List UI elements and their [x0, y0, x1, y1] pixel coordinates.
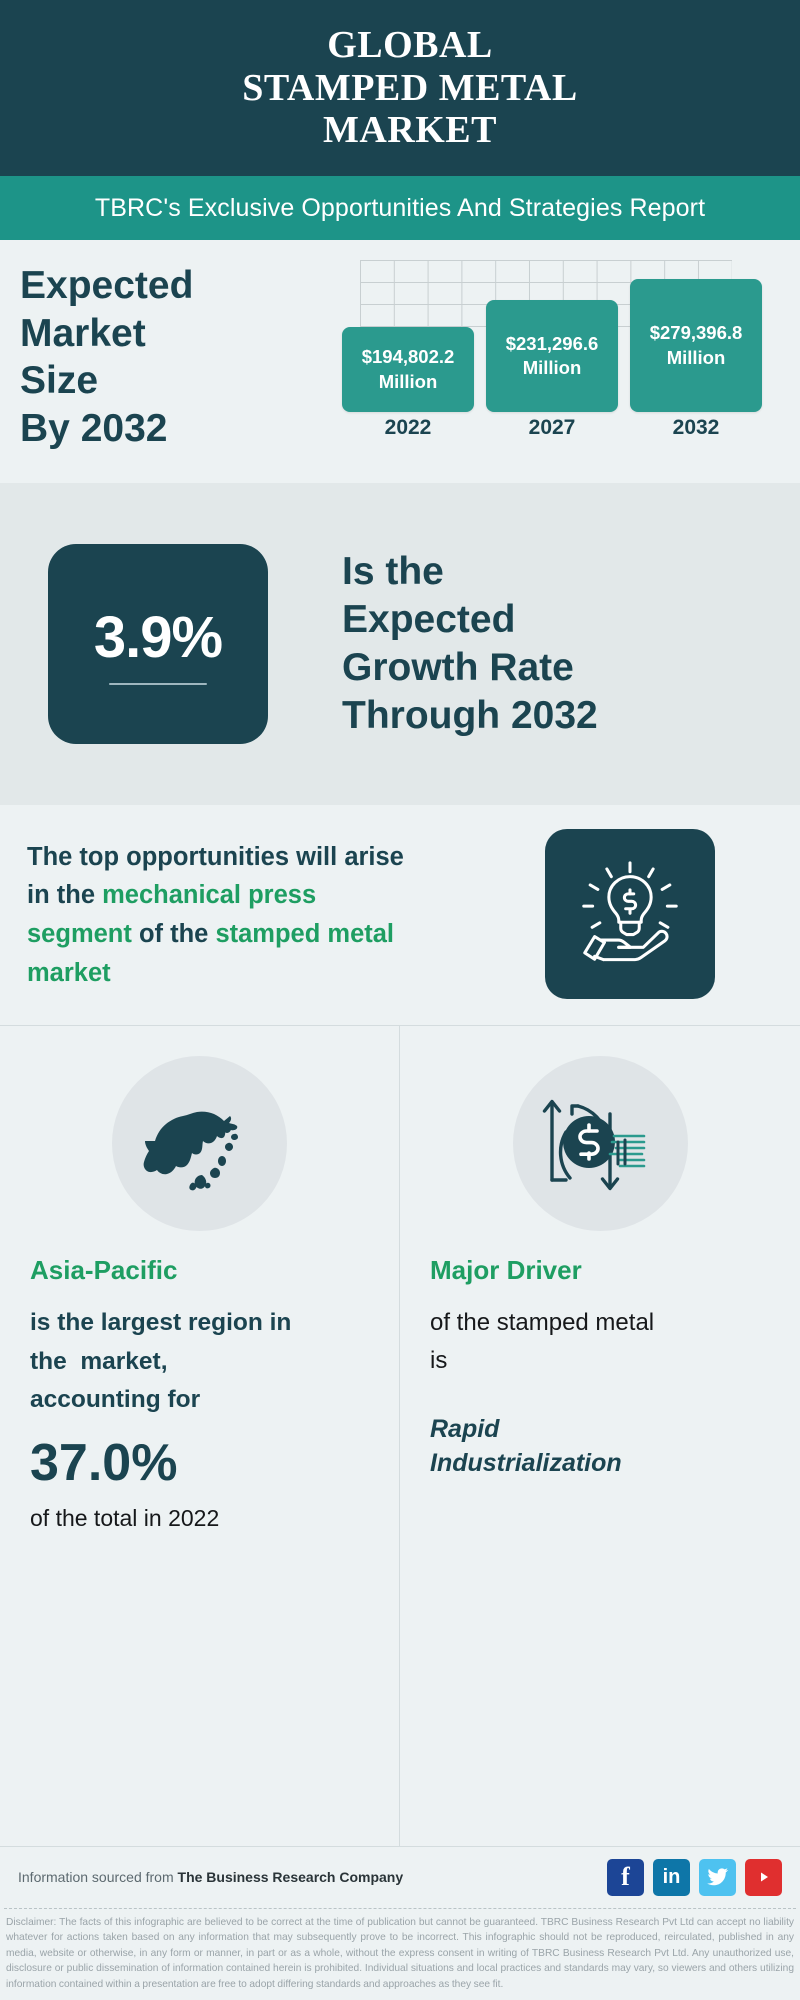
bar-2027: $231,296.6 Million: [486, 300, 618, 412]
cagr-value: 3.9%: [94, 604, 222, 671]
bar-unit-2027: Million: [523, 356, 582, 380]
opportunity-text: The top opportunities will arise in the …: [27, 838, 427, 993]
market-size-section: Expected Market Size By 2032 $194,802.2 …: [0, 240, 800, 483]
title-line-3: MARKET: [242, 109, 578, 152]
region-share-value: 37.0%: [30, 1432, 369, 1494]
driver-heading: Major Driver: [430, 1255, 770, 1286]
hand-holding-lightbulb-dollar-icon: [571, 855, 689, 973]
two-column-section: Asia-Pacific is the largest region in th…: [0, 1025, 800, 1905]
driver-text: Major Driver of the stamped metal is Rap…: [400, 1255, 800, 1480]
title-line-2: STAMPED METAL: [242, 67, 578, 110]
market-size-bar-chart: $194,802.2 Million $231,296.6 Million $2…: [320, 252, 780, 452]
infographic-page: GLOBAL STAMPED METAL MARKET TBRC's Exclu…: [0, 0, 800, 2000]
growth-line-4: Through 2032: [342, 692, 598, 740]
bar-2032: $279,396.8 Million: [630, 279, 762, 412]
source-line: Information sourced from The Business Re…: [18, 1869, 403, 1885]
driver-body-line-2: is: [430, 1342, 770, 1380]
linkedin-icon[interactable]: in: [653, 1859, 690, 1896]
market-title-line-2: Market: [20, 310, 290, 358]
subtitle-text: TBRC's Exclusive Opportunities And Strat…: [95, 194, 705, 223]
disclaimer-text: Disclaimer: The facts of this infographi…: [0, 1909, 800, 2000]
x-tick-2022: 2022: [342, 416, 474, 440]
title-line-1: GLOBAL: [242, 24, 578, 67]
region-share-note: of the total in 2022: [30, 1505, 369, 1532]
opportunity-section: The top opportunities will arise in the …: [0, 805, 800, 1025]
footer-top: Information sourced from The Business Re…: [0, 1846, 800, 1908]
facebook-glyph: f: [621, 1862, 630, 1892]
region-heading: Asia-Pacific: [30, 1255, 369, 1286]
market-size-title: Expected Market Size By 2032: [20, 262, 290, 452]
driver-value-line-2: Industrialization: [430, 1447, 770, 1481]
page-title: GLOBAL STAMPED METAL MARKET: [242, 24, 578, 152]
bar-unit-2022: Million: [379, 370, 438, 394]
header: GLOBAL STAMPED METAL MARKET: [0, 0, 800, 176]
region-body-line-3: accounting for: [30, 1381, 369, 1420]
bar-value-2027: $231,296.6: [506, 332, 599, 356]
cagr-underline: [109, 683, 207, 685]
driver-panel: Major Driver of the stamped metal is Rap…: [400, 1026, 800, 1905]
driver-icon-wrap: [400, 1056, 800, 1231]
dollar-circular-arrows-icon: [530, 1080, 670, 1208]
region-body: is the largest region in the market, acc…: [30, 1304, 369, 1420]
asia-pacific-map-icon: [135, 1079, 265, 1209]
opportunity-icon-box: [545, 829, 715, 999]
twitter-bird-icon: [707, 1867, 729, 1887]
growth-line-1: Is the: [342, 548, 598, 596]
market-title-line-1: Expected: [20, 262, 290, 310]
chart-bars: $194,802.2 Million $231,296.6 Million $2…: [320, 252, 780, 412]
twitter-icon[interactable]: [699, 1859, 736, 1896]
growth-rate-section: 3.9% Is the Expected Growth Rate Through…: [0, 483, 800, 805]
opportunity-seg-4: of the: [132, 920, 216, 948]
facebook-icon[interactable]: f: [607, 1859, 644, 1896]
cagr-badge: 3.9%: [48, 544, 268, 744]
bar-unit-2032: Million: [667, 346, 726, 370]
social-links: f in: [607, 1859, 782, 1896]
region-text: Asia-Pacific is the largest region in th…: [0, 1255, 399, 1532]
market-title-line-4: By 2032: [20, 405, 290, 453]
market-title-line-3: Size: [20, 357, 290, 405]
bar-column-2027: $231,296.6 Million: [486, 300, 618, 412]
youtube-play-icon: [754, 1868, 774, 1886]
growth-rate-text: Is the Expected Growth Rate Through 2032: [342, 548, 598, 740]
bar-column-2032: $279,396.8 Million: [630, 279, 762, 412]
linkedin-glyph: in: [663, 1866, 681, 1889]
bar-value-2022: $194,802.2: [362, 345, 455, 369]
driver-value: Rapid Industrialization: [430, 1413, 770, 1481]
source-prefix: Information sourced from: [18, 1869, 178, 1885]
region-body-line-1: is the largest region in: [30, 1304, 369, 1343]
growth-line-2: Expected: [342, 596, 598, 644]
driver-value-line-1: Rapid: [430, 1413, 770, 1447]
growth-line-3: Growth Rate: [342, 644, 598, 692]
driver-body-line-1: of the stamped metal: [430, 1304, 770, 1342]
region-icon-wrap: [0, 1056, 399, 1231]
bar-value-2032: $279,396.8: [650, 321, 743, 345]
driver-body: of the stamped metal is: [430, 1304, 770, 1381]
bar-column-2022: $194,802.2 Million: [342, 327, 474, 412]
subtitle-bar: TBRC's Exclusive Opportunities And Strat…: [0, 176, 800, 240]
footer: Information sourced from The Business Re…: [0, 1846, 800, 2000]
bar-2022: $194,802.2 Million: [342, 327, 474, 412]
region-icon-circle: [112, 1056, 287, 1231]
youtube-icon[interactable]: [745, 1859, 782, 1896]
x-tick-2027: 2027: [486, 416, 618, 440]
opportunity-seg-1: The top opportunities will: [27, 843, 344, 871]
region-body-line-2: the market,: [30, 1343, 369, 1382]
chart-x-axis-labels: 2022 2027 2032: [320, 416, 780, 440]
region-panel: Asia-Pacific is the largest region in th…: [0, 1026, 400, 1905]
driver-icon-circle: [513, 1056, 688, 1231]
x-tick-2032: 2032: [630, 416, 762, 440]
source-company: The Business Research Company: [178, 1869, 404, 1885]
